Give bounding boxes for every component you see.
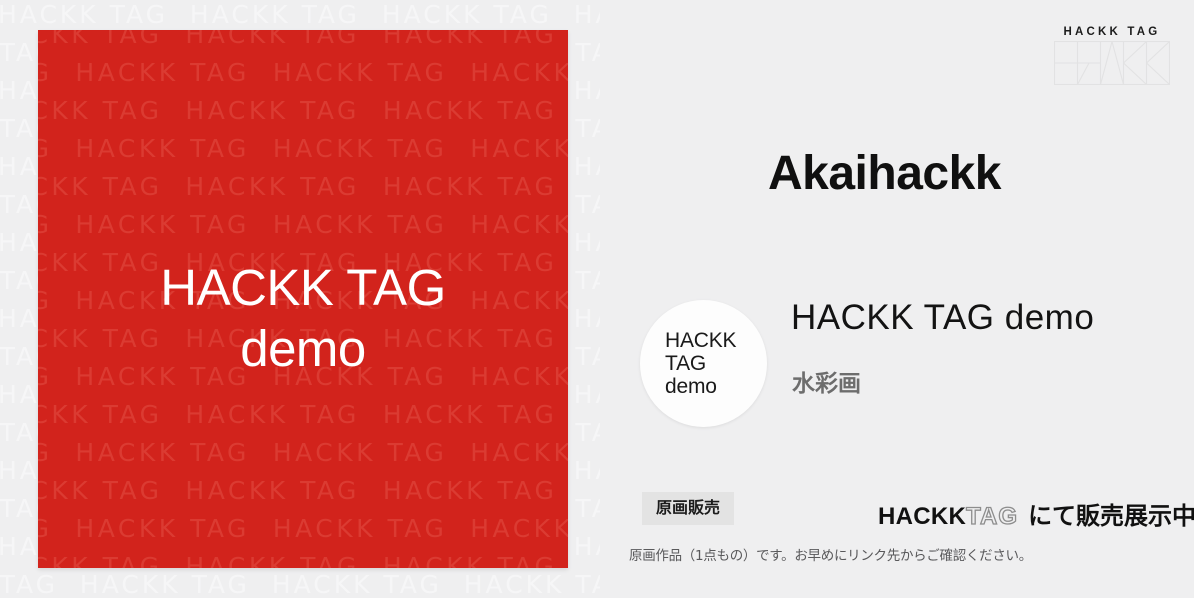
status-badge: 原画販売 [642, 492, 734, 525]
artwork-title: HACKK TAG demo [38, 258, 568, 380]
work-title: HACKK TAG demo [791, 298, 1094, 338]
info-panel: Akaihackk HACKK TAG demo HACKK TAG demo … [628, 0, 1188, 598]
sale-brand-solid: HACKK [878, 503, 966, 530]
page-watermark-row: HACKK TAG HACKK TAG HACKK TAG HACKK TAG … [0, 570, 600, 598]
artwork-image[interactable]: HACKK TAG HACKK TAG HACKK TAG HACKK TAG … [38, 30, 568, 568]
artwork-pattern-row: HACKK TAG HACKK TAG HACKK TAG HACKK TAG … [38, 172, 568, 201]
sale-suffix: にて販売展示中 [1028, 502, 1194, 530]
avatar-line-3: demo [665, 375, 767, 398]
sale-location-line[interactable]: HACKKTAGにて販売展示中 [878, 496, 1194, 531]
avatar-line-2: TAG [665, 352, 767, 375]
artwork-title-line1: HACKK TAG [38, 258, 568, 318]
page-watermark-row: HACKK TAG HACKK TAG HACKK TAG HACKK TAG … [0, 0, 600, 29]
page-title: Akaihackk [768, 146, 1001, 201]
artwork-pattern-row: HACKK TAG HACKK TAG HACKK TAG HACKK TAG … [38, 438, 568, 467]
artwork-title-line2: demo [38, 318, 568, 380]
artwork-pattern-row: HACKK TAG HACKK TAG HACKK TAG HACKK TAG … [38, 552, 568, 568]
avatar[interactable]: HACKK TAG demo [640, 300, 767, 427]
artwork-pattern-row: HACKK TAG HACKK TAG HACKK TAG HACKK TAG … [38, 210, 568, 239]
artwork-pattern-row: HACKK TAG HACKK TAG HACKK TAG HACKK TAG … [38, 134, 568, 163]
artwork-pattern-row: HACKK TAG HACKK TAG HACKK TAG HACKK TAG … [38, 476, 568, 505]
artwork-pattern-row: HACKK TAG HACKK TAG HACKK TAG HACKK TAG … [38, 30, 568, 49]
artwork-pattern-row: HACKK TAG HACKK TAG HACKK TAG HACKK TAG … [38, 514, 568, 543]
work-genre: 水彩画 [792, 364, 861, 398]
avatar-line-1: HACKK [665, 329, 767, 352]
sale-note: 原画作品（1点もの）です。お早めにリンク先からご確認ください。 [629, 544, 1032, 564]
artwork-pattern-row: HACKK TAG HACKK TAG HACKK TAG HACKK TAG … [38, 400, 568, 429]
sale-brand-hollow: TAG [966, 503, 1018, 530]
artwork-pattern-row: HACKK TAG HACKK TAG HACKK TAG HACKK TAG … [38, 58, 568, 87]
artwork-pattern-row: HACKK TAG HACKK TAG HACKK TAG HACKK TAG … [38, 96, 568, 125]
